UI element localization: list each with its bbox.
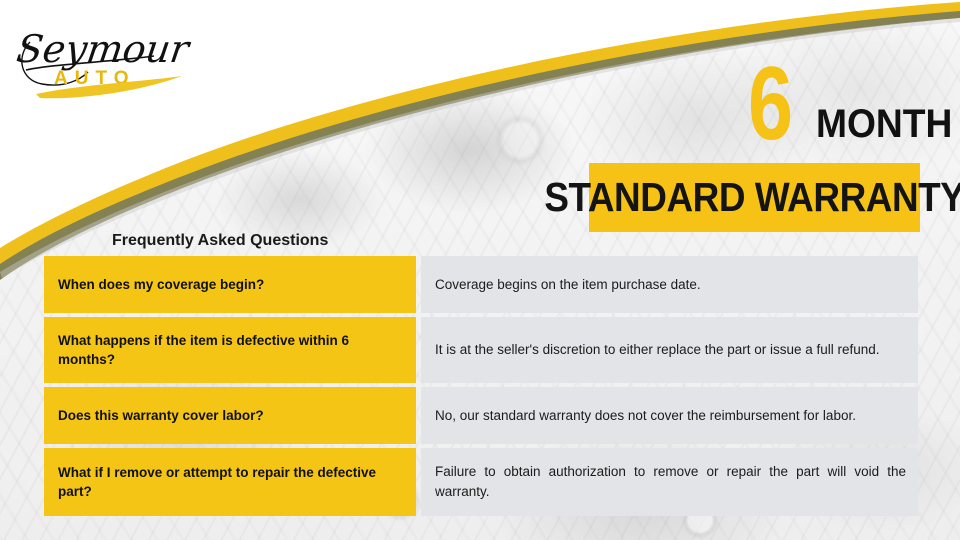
faq-question-cell: Does this warranty cover labor? bbox=[44, 387, 416, 444]
faq-answer-cell: It is at the seller's discretion to eith… bbox=[421, 317, 918, 383]
warranty-slide: Seymour AUTO 6 MONTH STANDARD WARRANTY F… bbox=[0, 0, 960, 540]
table-row: Does this warranty cover labor? No, our … bbox=[44, 387, 918, 444]
faq-answer-cell: Failure to obtain authorization to remov… bbox=[421, 448, 918, 516]
logo-script-wordmark: Seymour bbox=[14, 28, 194, 72]
faq-answer-cell: Coverage begins on the item purchase dat… bbox=[421, 256, 918, 313]
faq-answer-cell: No, our standard warranty does not cover… bbox=[421, 387, 918, 444]
warranty-duration-number: 6 bbox=[748, 52, 792, 156]
warranty-duration-unit: MONTH bbox=[816, 104, 952, 144]
table-row: When does my coverage begin? Coverage be… bbox=[44, 256, 918, 313]
faq-table: When does my coverage begin? Coverage be… bbox=[44, 256, 918, 516]
faq-question-cell: When does my coverage begin? bbox=[44, 256, 416, 313]
table-row: What happens if the item is defective wi… bbox=[44, 317, 918, 383]
seymour-auto-logo: Seymour AUTO bbox=[14, 14, 214, 104]
standard-warranty-title: STANDARD WARRANTY bbox=[544, 177, 960, 218]
table-row: What if I remove or attempt to repair th… bbox=[44, 448, 918, 516]
faq-question-cell: What happens if the item is defective wi… bbox=[44, 317, 416, 383]
faq-question-cell: What if I remove or attempt to repair th… bbox=[44, 448, 416, 516]
svg-text:Seymour: Seymour bbox=[14, 28, 194, 72]
faq-heading: Frequently Asked Questions bbox=[112, 231, 328, 251]
standard-warranty-banner: STANDARD WARRANTY bbox=[589, 163, 920, 232]
